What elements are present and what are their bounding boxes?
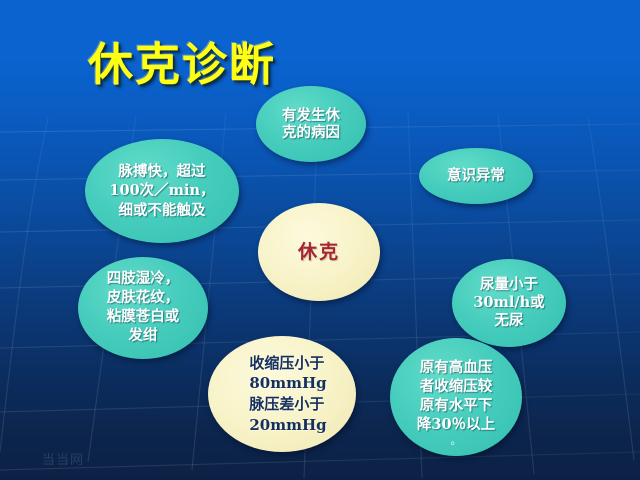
slide-canvas: 休克诊断 有发生休 克的病因 脉搏快，超过 100次／min， 细或不能触及 意… [0,0,640,480]
node-urine-output-label: 尿量小于 30ml/h或 无尿 [469,276,548,331]
node-blood-pressure[interactable]: 收缩压小于 80mmHg 脉压差小于 20mmHg [208,336,356,452]
watermark: 当当网 [42,449,84,468]
node-hypertension-label: 原有高血压 者收缩压较 原有水平下 降30％以上 [413,359,499,434]
node-blood-pressure-label: 收缩压小于 80mmHg 脉压差小于 20mmHg [233,353,330,436]
node-consciousness-label: 意识异常 [443,168,509,184]
node-pulse-label: 脉搏快，超过 100次／min， 细或不能触及 [105,162,218,219]
node-urine-output[interactable]: 尿量小于 30ml/h或 无尿 [452,259,566,347]
node-limbs[interactable]: 四肢湿冷， 皮肤花纹， 粘膜苍白或 发绀 [78,257,208,359]
node-cause-label: 有发生休 克的病因 [278,107,344,141]
node-limbs-label: 四肢湿冷， 皮肤花纹， 粘膜苍白或 发绀 [103,270,184,345]
node-hypertension-trailing-period: 。 [451,435,462,446]
slide-title: 休克诊断 [88,42,276,87]
node-consciousness[interactable]: 意识异常 [419,148,533,204]
node-cause[interactable]: 有发生休 克的病因 [256,86,366,162]
node-hypertension[interactable]: 原有高血压 者收缩压较 原有水平下 降30％以上 。 [390,338,522,456]
node-pulse[interactable]: 脉搏快，超过 100次／min， 细或不能触及 [85,139,239,243]
node-shock-center-label: 休克 [294,243,344,262]
node-shock-center[interactable]: 休克 [258,203,380,301]
